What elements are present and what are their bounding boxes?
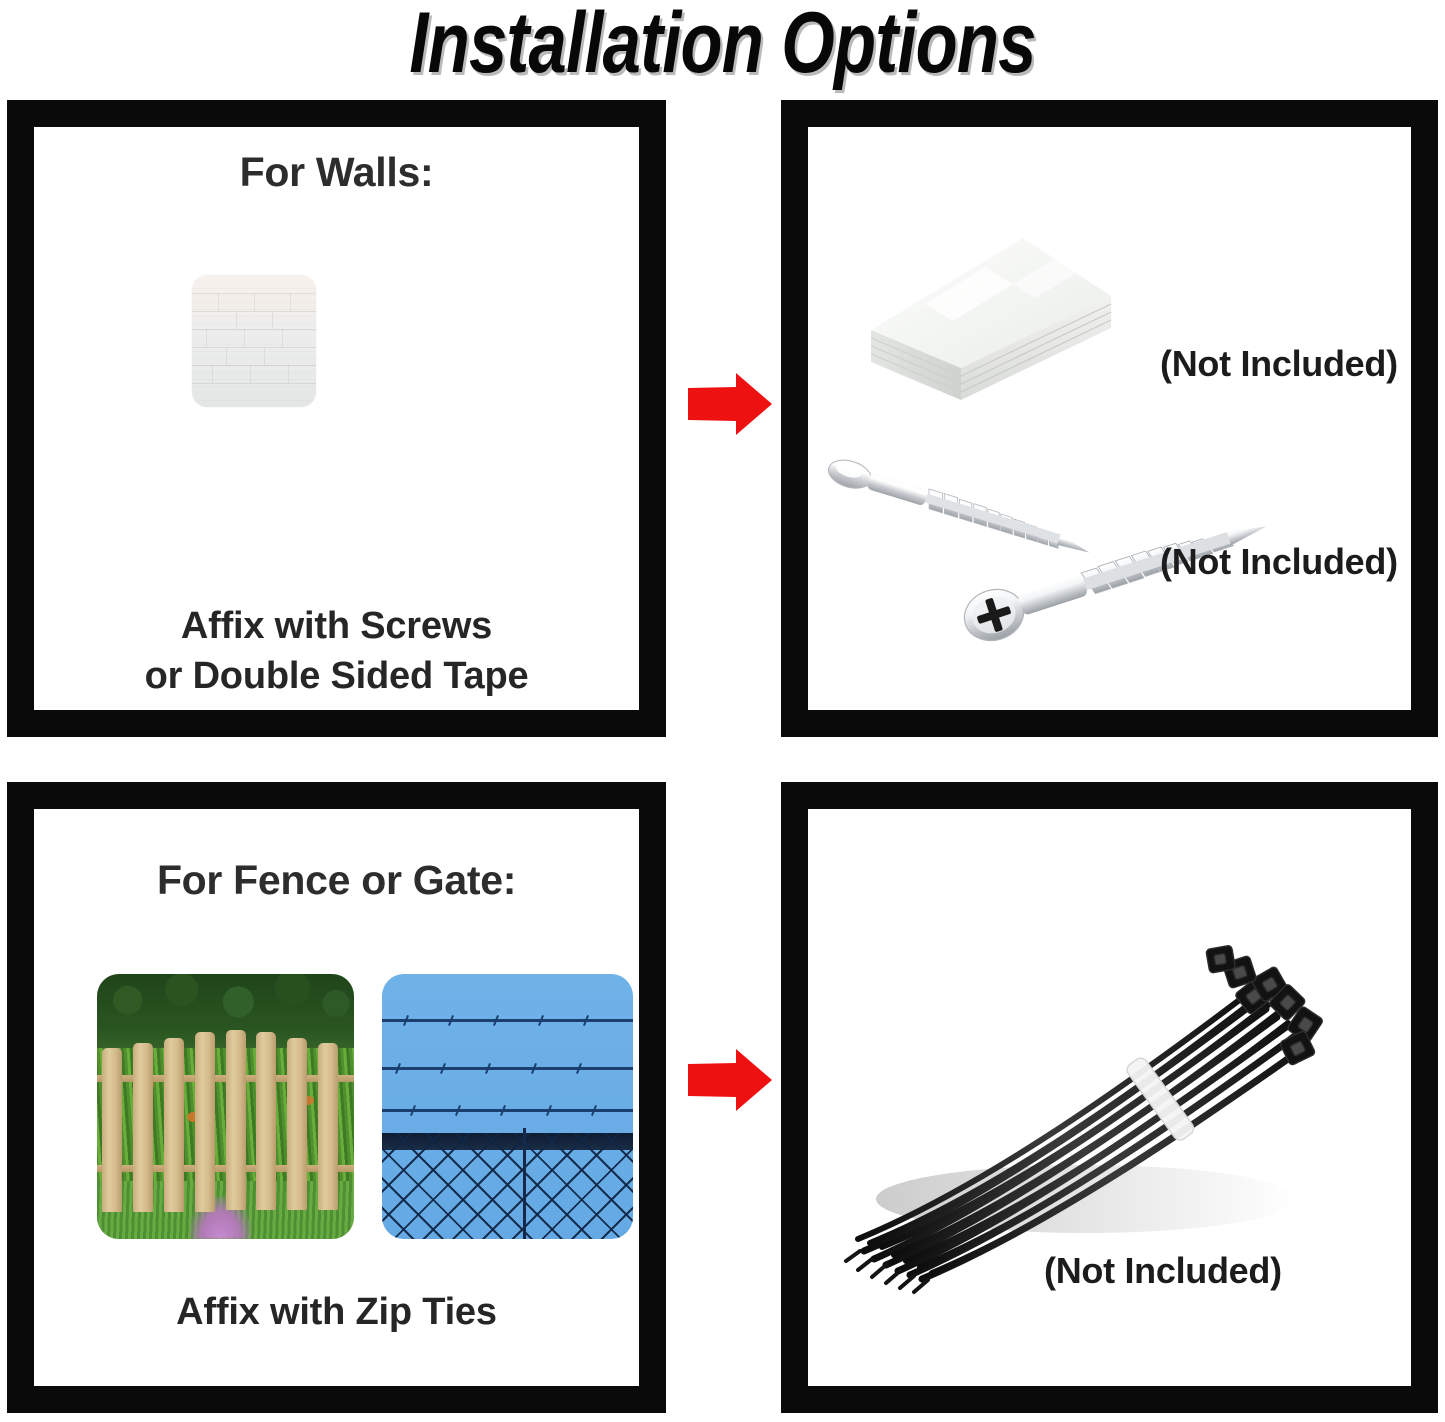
black-zip-tie-bundle-image (836, 899, 1356, 1299)
arrow-right-icon-top (686, 372, 774, 436)
zipties-not-included-label: (Not Included) (1044, 1250, 1282, 1292)
panel-wall-hardware: (Not Included) (781, 100, 1438, 737)
panel-for-walls: For Walls: Affix with Screws or Double S (7, 100, 666, 737)
white-brick-wall-image (192, 275, 316, 407)
walls-caption-line-1: Affix with Screws (34, 605, 639, 648)
wood-screw-icon-lower (954, 519, 1304, 659)
arrow-right-icon-bottom (686, 1048, 774, 1112)
walls-caption-line-2: or Double Sided Tape (34, 655, 639, 698)
for-fence-or-gate-heading: For Fence or Gate: (34, 857, 639, 904)
page-title: Installation Options (145, 0, 1301, 93)
screws-not-included-label: (Not Included) (1160, 541, 1398, 583)
double-sided-tape-stack-image (863, 232, 1133, 417)
tape-not-included-label: (Not Included) (1160, 343, 1398, 385)
panel-for-fence-or-gate: For Fence or Gate: (7, 782, 666, 1413)
fence-caption: Affix with Zip Ties (34, 1291, 639, 1334)
chain-link-fence-image (382, 974, 633, 1239)
wooden-picket-fence-image (97, 974, 354, 1239)
panel-zip-ties: (Not Included) (781, 782, 1438, 1413)
for-walls-heading: For Walls: (34, 149, 639, 196)
